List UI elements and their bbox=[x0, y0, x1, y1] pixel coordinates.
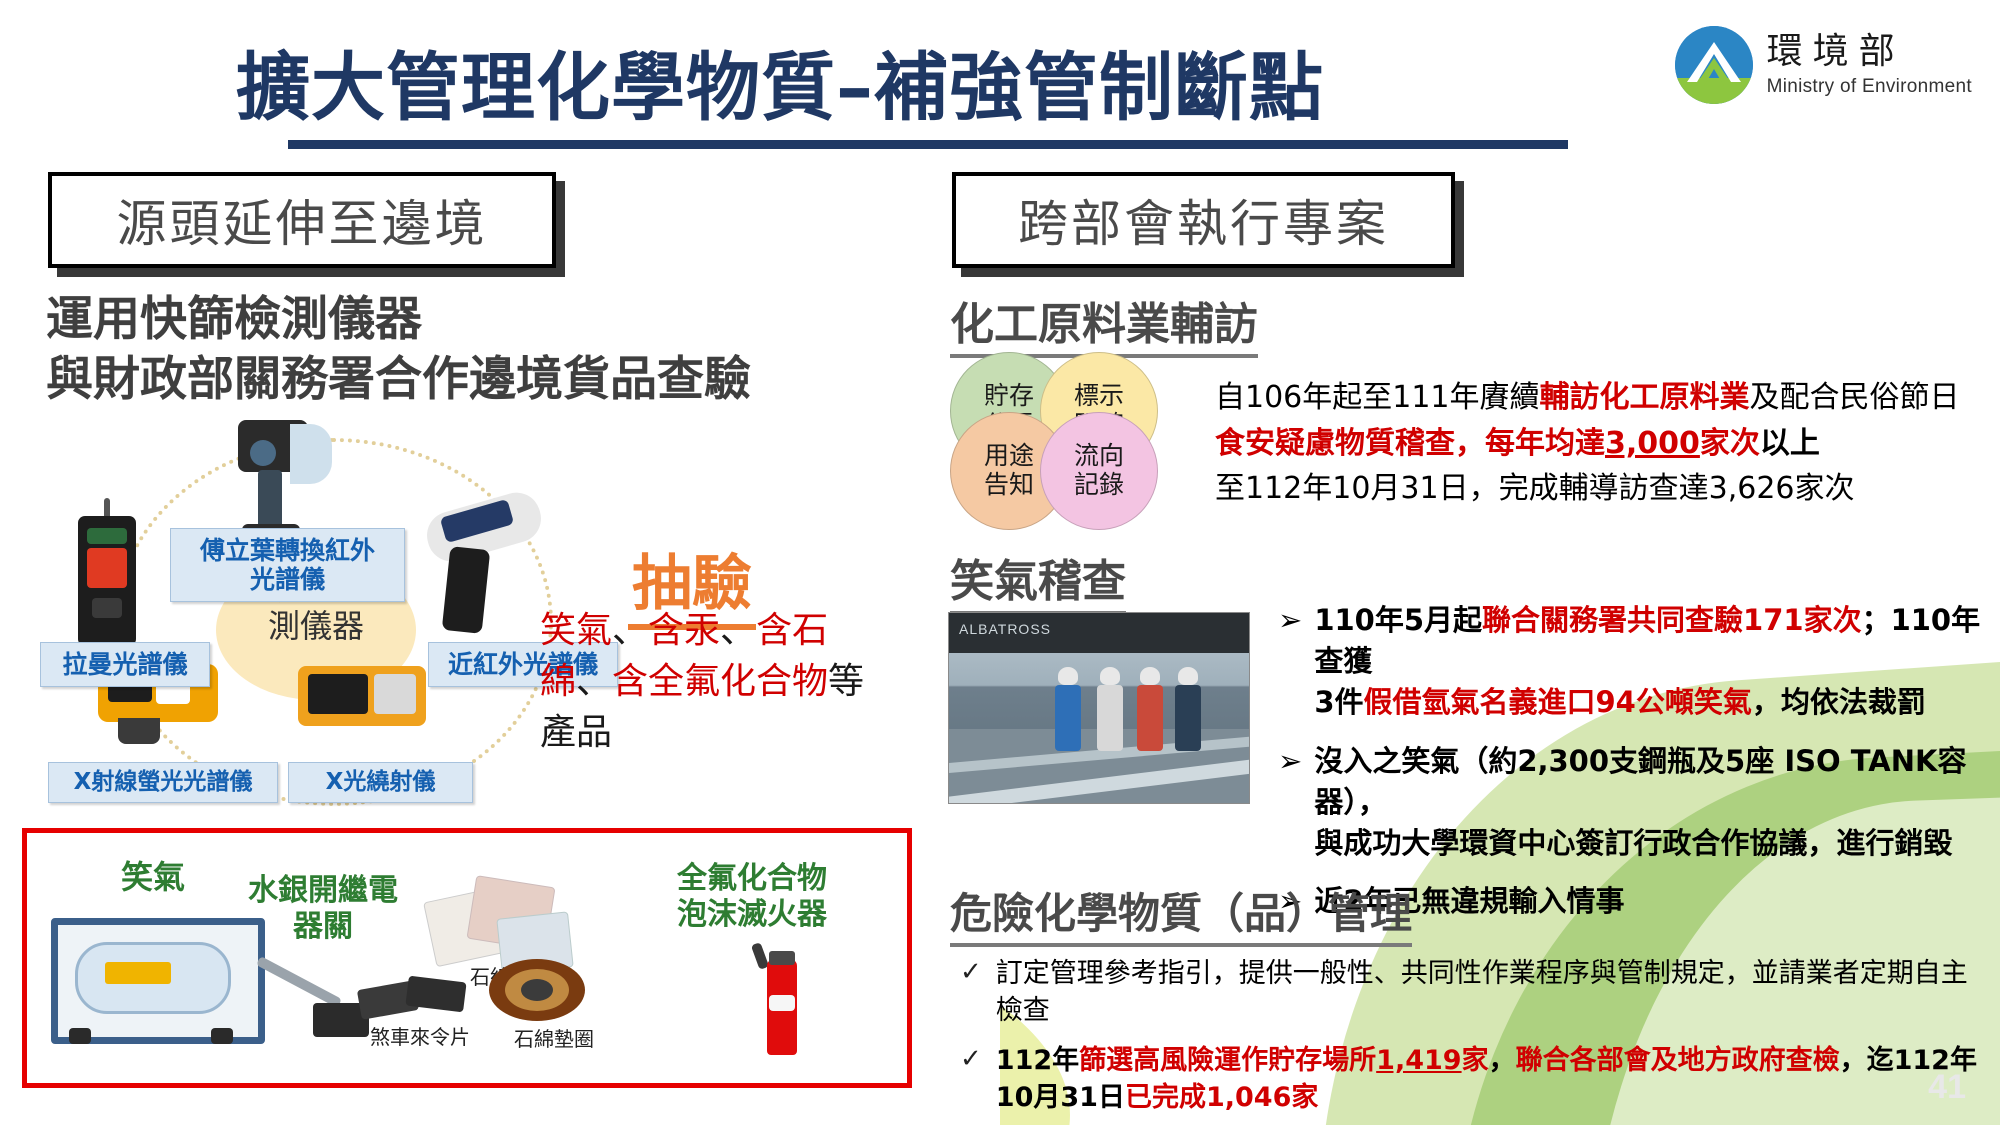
label-xrd-diffractometer: X光繞射儀 bbox=[288, 762, 473, 803]
page-number: 41 bbox=[1928, 1068, 1966, 1107]
text-run: 自106年起至111年賡續 bbox=[1215, 380, 1540, 415]
text-run: 假借氫氣名義進口94公噸笑氣 bbox=[1364, 685, 1752, 719]
label-xrf-spectrometer: X射線螢光光譜儀 bbox=[48, 762, 278, 803]
right-block2-heading: 笑氣稽查 bbox=[950, 545, 1126, 615]
nitrous-oxide-tank-image bbox=[51, 918, 251, 1046]
right-block3-heading: 危險化學物質（品）管理 bbox=[950, 880, 1412, 947]
ministry-emblem-icon bbox=[1675, 26, 1753, 104]
logo-english-name: Ministry of Environment bbox=[1767, 77, 1972, 96]
block1-paragraph: 自106年起至111年賡續輔訪化工原料業及配合民俗節日食安疑慮物質稽查，每年均達… bbox=[1215, 375, 2000, 512]
text-run: 、 bbox=[576, 661, 612, 702]
ministry-logo: 環境部 Ministry of Environment bbox=[1675, 26, 1972, 104]
label-raman-spectrometer: 拉曼光譜儀 bbox=[40, 642, 210, 687]
left-subtitle-line2: 與財政部關務署合作邊境貨品查驗 bbox=[46, 350, 906, 410]
asbestos-gasket-image bbox=[489, 959, 589, 1033]
text-run: 及配合民俗節日 bbox=[1750, 380, 1960, 415]
text-run: 112年 bbox=[996, 1045, 1079, 1076]
label-brake-pad: 煞車來令片 bbox=[345, 1021, 495, 1050]
text-run: 含全氟化合物 bbox=[612, 661, 828, 702]
check-text: 訂定管理參考指引，提供一般性、共同性作業程序與管制規定，並請業者定期自主檢查 bbox=[996, 955, 1990, 1030]
center-label-line2: 測儀器 bbox=[216, 608, 416, 646]
bullet-text: 110年5月起聯合關務署共同查驗171家次；110年查獲3件假借氫氣名義進口94… bbox=[1314, 600, 1993, 724]
check-marker-icon: ✓ bbox=[960, 1042, 982, 1117]
bullet-row: ➢沒入之笑氣（約2,300支鋼瓶及5座 ISO TANK容器），與成功大學環資中… bbox=[1278, 741, 1993, 865]
text-run: ， bbox=[1489, 1045, 1516, 1076]
photo-worker-4 bbox=[1175, 685, 1201, 751]
check-marker-icon: ✓ bbox=[960, 955, 982, 1030]
raman-device-image bbox=[78, 498, 138, 648]
page-title: 擴大管理化學物質–補強管制斷點 bbox=[0, 28, 1560, 135]
text-run: 笑氣 bbox=[540, 610, 612, 651]
text-run: 篩選高風險運作貯存場所 bbox=[1079, 1045, 1376, 1076]
left-subtitle-line1: 運用快篩檢測儀器 bbox=[46, 290, 906, 350]
nitrous-oxide-inspection-photo: ALBATROSS bbox=[948, 612, 1250, 804]
label-pfas-extinguisher: 全氟化合物泡沫滅火器 bbox=[627, 861, 877, 933]
title-underline-rule bbox=[288, 140, 1568, 149]
text-run: 沒入之笑氣（約2,300支鋼瓶及5座 ISO TANK容器）， bbox=[1314, 744, 1966, 819]
text-run: 以上 bbox=[1760, 426, 1820, 461]
check-row: ✓112年篩選高風險運作貯存場所1,419家，聯合各部會及地方政府查檢，迄112… bbox=[960, 1042, 1990, 1117]
text-run: 、 bbox=[612, 610, 648, 651]
bullet-marker-icon: ➢ bbox=[1278, 741, 1302, 865]
text-run: 聯合關務署共同查驗171家次 bbox=[1482, 603, 1862, 637]
check-row: ✓訂定管理參考指引，提供一般性、共同性作業程序與管制規定，並請業者定期自主檢查 bbox=[960, 955, 1990, 1030]
text-run: 3件 bbox=[1314, 685, 1363, 719]
pfas-extinguisher-image bbox=[733, 943, 813, 1059]
xrd-device-image bbox=[298, 656, 438, 748]
text-run: 食安疑慮物質稽查，每年均達 bbox=[1215, 426, 1605, 461]
text-run: 、 bbox=[720, 610, 756, 651]
section-header-right-label: 跨部會執行專案 bbox=[1018, 184, 1389, 256]
photo-worker-3 bbox=[1137, 685, 1163, 751]
text-run: 聯合各部會及地方政府查檢 bbox=[1516, 1045, 1840, 1076]
chemical-raw-material-venn: 貯存分區 標示明確 用途告知 流向記錄 bbox=[950, 352, 1220, 522]
venn-flow-record: 流向記錄 bbox=[1040, 412, 1158, 530]
right-block1-heading: 化工原料業輔訪 bbox=[950, 288, 1258, 358]
section-header-left: 源頭延伸至邊境 bbox=[48, 172, 556, 268]
photo-vessel-name: ALBATROSS bbox=[959, 621, 1051, 637]
text-run: 家次 bbox=[1700, 426, 1760, 461]
bullet-row: ➢110年5月起聯合關務署共同查驗171家次；110年查獲3件假借氫氣名義進口9… bbox=[1278, 600, 1993, 724]
label-mercury-relay: 水銀開繼電器關 bbox=[223, 873, 423, 945]
sampling-body: 笑氣、含汞、含石綿、含全氟化合物等產品 bbox=[540, 605, 870, 758]
logo-chinese-name: 環境部 bbox=[1767, 34, 1972, 70]
slide-root: 擴大管理化學物質–補強管制斷點 環境部 Ministry of Environm… bbox=[0, 0, 2000, 1125]
check-text: 112年篩選高風險運作貯存場所1,419家，聯合各部會及地方政府查檢，迄112年… bbox=[996, 1042, 1990, 1117]
text-run: ，均依法裁罰 bbox=[1752, 685, 1926, 719]
screening-instruments-diagram: 快篩檢 測儀器 bbox=[40, 420, 600, 820]
section-header-left-label: 源頭延伸至邊境 bbox=[117, 184, 488, 256]
restricted-products-box: 笑氣 水銀開繼電器關 石綿板 煞車來令片 石綿墊圈 bbox=[22, 828, 912, 1088]
block3-check-list: ✓訂定管理參考指引，提供一般性、共同性作業程序與管制規定，並請業者定期自主檢查✓… bbox=[960, 955, 1990, 1125]
text-run: 家 bbox=[1462, 1045, 1489, 1076]
bullet-marker-icon: ➢ bbox=[1278, 600, 1302, 724]
photo-worker-2 bbox=[1097, 685, 1123, 751]
label-nitrous-oxide: 笑氣 bbox=[73, 858, 233, 896]
photo-worker-1 bbox=[1055, 685, 1081, 751]
section-header-right: 跨部會執行專案 bbox=[952, 172, 1455, 268]
text-run: 已完成1,046家 bbox=[1125, 1082, 1318, 1113]
nir-device-image bbox=[420, 492, 550, 652]
text-run: 3,000 bbox=[1605, 426, 1700, 461]
label-ftir-spectrometer: 傅立葉轉換紅外光譜儀 bbox=[170, 528, 405, 602]
text-run: 含汞 bbox=[648, 610, 720, 651]
text-run: 與成功大學環資中心簽訂行政合作協議，進行銷毀 bbox=[1314, 826, 1952, 860]
text-run: 1,419 bbox=[1376, 1045, 1461, 1076]
text-run: 訂定管理參考指引，提供一般性、共同性作業程序與管制規定，並請業者定期自主檢查 bbox=[996, 958, 1968, 1026]
left-subtitle: 運用快篩檢測儀器 與財政部關務署合作邊境貨品查驗 bbox=[46, 290, 906, 410]
text-run: 至112年10月31日，完成輔導訪查達3,626家次 bbox=[1215, 471, 1855, 506]
text-run: 110年5月起 bbox=[1314, 603, 1482, 637]
bullet-text: 沒入之笑氣（約2,300支鋼瓶及5座 ISO TANK容器），與成功大學環資中心… bbox=[1314, 741, 1993, 865]
label-asbestos-gasket: 石綿墊圈 bbox=[479, 1023, 629, 1052]
text-run: 輔訪化工原料業 bbox=[1540, 380, 1750, 415]
